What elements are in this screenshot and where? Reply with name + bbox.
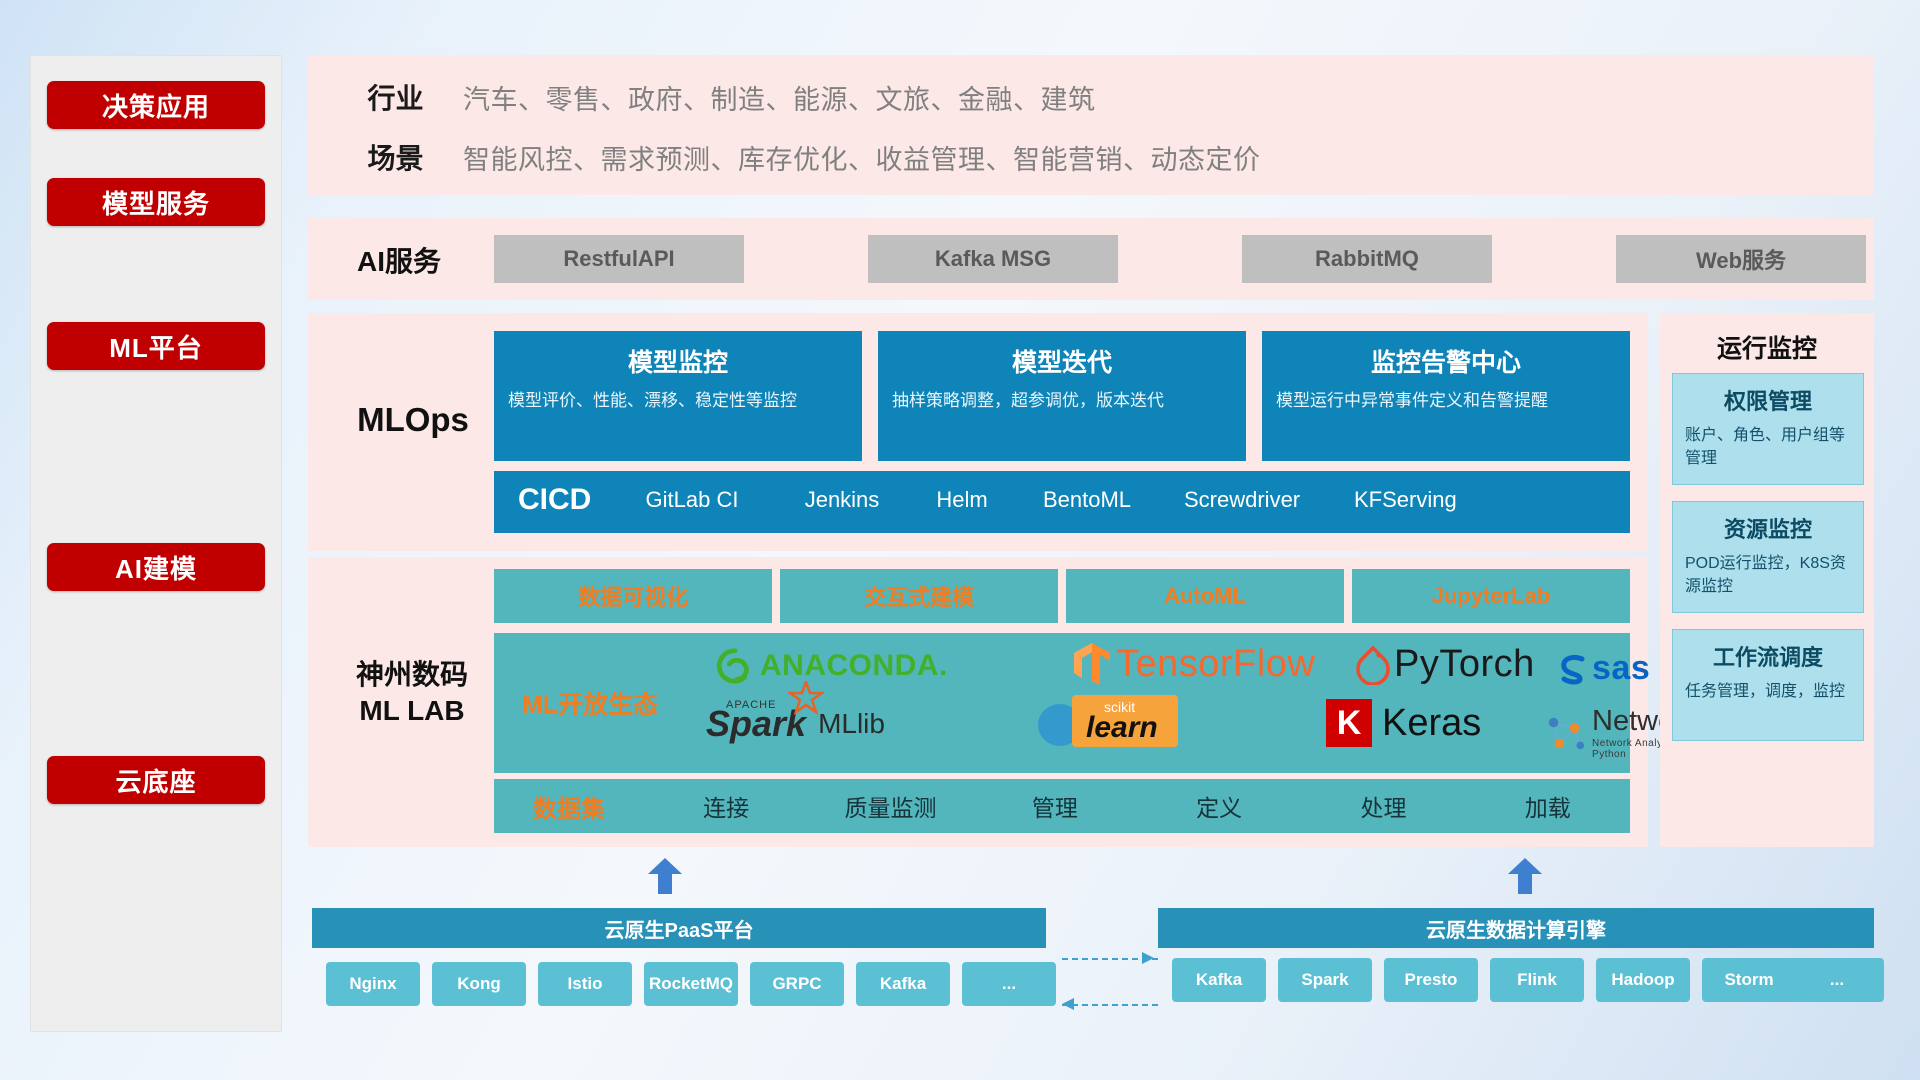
cicd-item-gitlab-ci[interactable]: GitLab CI [644, 487, 740, 512]
keras-mark-icon: K [1326, 699, 1372, 747]
mlops-card-desc: 模型评价、性能、漂移、稳定性等监控 [508, 389, 848, 414]
mlops-card-alert-center[interactable]: 监控告警中心 模型运行中异常事件定义和告警提醒 [1262, 331, 1630, 461]
ml-ecosystem-panel: ML开放生态 ANACONDA. TensorFlow [494, 633, 1630, 773]
layer-rail: 决策应用 模型服务 ML平台 AI建模 云底座 [30, 55, 282, 1032]
cicd-item-kfserving[interactable]: KFServing [1354, 487, 1450, 512]
ml-lab-band: 神州数码 ML LAB 数据可视化 交互式建模 AutoML JupyterLa… [308, 557, 1648, 847]
scikit-learn-logo: scikit learn [1034, 699, 1086, 749]
cicd-label: CICD [518, 483, 591, 517]
dataset-item-connect[interactable]: 连接 [644, 789, 808, 823]
sas-mark-icon [1556, 653, 1590, 685]
networkx-graph-icon [1544, 712, 1586, 754]
layer-chip-mlplatform[interactable]: ML平台 [47, 322, 265, 370]
anaconda-mark-icon [716, 647, 754, 685]
layer-chip-aimodeling[interactable]: AI建模 [47, 543, 265, 591]
cloud-tag-engine-more[interactable]: ... [1790, 958, 1884, 1002]
mlops-card-model-iteration[interactable]: 模型迭代 抽样策略调整，超参调优，版本迭代 [878, 331, 1246, 461]
ml-lab-tab-interactive-modeling[interactable]: 交互式建模 [780, 569, 1058, 623]
ai-service-button-web[interactable]: Web服务 [1616, 235, 1866, 283]
mlops-label: MLOps [328, 401, 498, 439]
cloud-tag-rocketmq[interactable]: RocketMQ [644, 962, 738, 1006]
dataset-item-define[interactable]: 定义 [1137, 789, 1301, 823]
dataset-item-manage[interactable]: 管理 [973, 789, 1137, 823]
dataset-item-quality[interactable]: 质量监测 [808, 789, 972, 823]
sas-logo: sas [1556, 649, 1650, 688]
ai-service-button-kafka-msg[interactable]: Kafka MSG [868, 235, 1118, 283]
industry-value: 汽车、零售、政府、制造、能源、文旅、金融、建筑 [463, 78, 1096, 117]
cloud-paas-title-bar: 云原生PaaS平台 [312, 908, 1046, 948]
anaconda-logo: ANACONDA. [716, 647, 948, 685]
cicd-row: CICD GitLab CI Jenkins Helm BentoML Scre… [494, 471, 1630, 533]
monitor-card-desc: 任务管理，调度，监控 [1685, 680, 1851, 703]
scene-label: 场景 [328, 137, 463, 177]
ai-service-label: AI服务 [334, 240, 464, 280]
cicd-item-helm[interactable]: Helm [914, 487, 1010, 512]
mllib-logo-text: MLlib [818, 708, 885, 740]
ml-ecosystem-label: ML开放生态 [522, 685, 658, 721]
monitor-card-desc: 账户、角色、用户组等管理 [1685, 424, 1851, 470]
arrow-up-paas-icon [648, 858, 682, 894]
cloud-tag-kafka[interactable]: Kafka [856, 962, 950, 1006]
industry-label: 行业 [328, 77, 463, 117]
ai-service-button-restfulapi[interactable]: RestfulAPI [494, 235, 744, 283]
runtime-monitor-panel: 运行监控 权限管理 账户、角色、用户组等管理 资源监控 POD运行监控，K8S资… [1660, 313, 1874, 847]
tensorflow-mark-icon [1072, 641, 1112, 687]
connector-arrow-right-icon [1142, 950, 1160, 968]
dataset-item-process[interactable]: 处理 [1301, 789, 1465, 823]
keras-mark-text: K [1337, 704, 1362, 743]
pytorch-logo-text: PyTorch [1394, 643, 1535, 686]
monitor-card-resource[interactable]: 资源监控 POD运行监控，K8S资源监控 [1672, 501, 1864, 613]
monitor-card-title: 资源监控 [1673, 512, 1863, 544]
cloud-tag-engine-storm[interactable]: Storm [1702, 958, 1796, 1002]
pytorch-logo: PyTorch [1356, 643, 1535, 686]
ml-lab-label: 神州数码 ML LAB [322, 657, 502, 730]
dataset-row: 数据集 连接 质量监测 管理 定义 处理 加载 [494, 779, 1630, 833]
pytorch-mark-icon [1356, 645, 1390, 685]
connector-arrow-left-icon [1060, 996, 1078, 1014]
cloud-tag-grpc[interactable]: GRPC [750, 962, 844, 1006]
layer-chip-cloudbase[interactable]: 云底座 [47, 756, 265, 804]
cicd-item-bentoml[interactable]: BentoML [1039, 487, 1135, 512]
mlops-band: MLOps 模型监控 模型评价、性能、漂移、稳定性等监控 模型迭代 抽样策略调整… [308, 313, 1648, 551]
cloud-tag-paas-more[interactable]: ... [962, 962, 1056, 1006]
cloud-tag-engine-spark[interactable]: Spark [1278, 958, 1372, 1002]
scikit-learn-text: learn [1086, 711, 1158, 745]
architecture-diagram: 决策应用 模型服务 ML平台 AI建模 云底座 行业 汽车、零售、政府、制造、能… [0, 0, 1920, 1080]
spark-apache-text: APACHE [726, 699, 776, 711]
cloud-tag-istio[interactable]: Istio [538, 962, 632, 1006]
mlops-card-title: 监控告警中心 [1262, 343, 1630, 379]
dataset-label: 数据集 [494, 789, 644, 824]
monitor-card-permission[interactable]: 权限管理 账户、角色、用户组等管理 [1672, 373, 1864, 485]
arrow-up-engine-icon [1508, 858, 1542, 894]
anaconda-logo-text: ANACONDA. [760, 649, 948, 683]
monitor-card-workflow[interactable]: 工作流调度 任务管理，调度，监控 [1672, 629, 1864, 741]
layer-chip-modelserve[interactable]: 模型服务 [47, 178, 265, 226]
mlops-card-desc: 模型运行中异常事件定义和告警提醒 [1276, 389, 1616, 414]
dataset-item-load[interactable]: 加载 [1466, 789, 1630, 823]
cicd-item-jenkins[interactable]: Jenkins [794, 487, 890, 512]
ai-service-button-rabbitmq[interactable]: RabbitMQ [1242, 235, 1492, 283]
cloud-tag-nginx[interactable]: Nginx [326, 962, 420, 1006]
keras-logo-text: Keras [1382, 702, 1481, 745]
scene-value: 智能风控、需求预测、库存优化、收益管理、智能营销、动态定价 [463, 138, 1261, 177]
spark-mllib-logo: APACHE Spark MLlib [706, 703, 885, 745]
tensorflow-logo-text: TensorFlow [1116, 643, 1315, 686]
runtime-monitor-title: 运行监控 [1660, 329, 1874, 365]
mlops-card-desc: 抽样策略调整，超参调优，版本迭代 [892, 389, 1232, 414]
cloud-engine-title-bar: 云原生数据计算引擎 [1158, 908, 1874, 948]
cloud-tag-engine-presto[interactable]: Presto [1384, 958, 1478, 1002]
monitor-card-title: 工作流调度 [1673, 640, 1863, 672]
cloud-tag-kong[interactable]: Kong [432, 962, 526, 1006]
ml-lab-label-line2: ML LAB [322, 693, 502, 729]
cicd-item-screwdriver[interactable]: Screwdriver [1184, 487, 1280, 512]
monitor-card-desc: POD运行监控，K8S资源监控 [1685, 552, 1851, 598]
ml-lab-tab-jupyterlab[interactable]: JupyterLab [1352, 569, 1630, 623]
mlops-card-title: 模型监控 [494, 343, 862, 379]
industry-scene-band: 行业 汽车、零售、政府、制造、能源、文旅、金融、建筑 场景 智能风控、需求预测、… [308, 55, 1874, 195]
layer-chip-decision[interactable]: 决策应用 [47, 81, 265, 129]
mlops-card-title: 模型迭代 [878, 343, 1246, 379]
cloud-tag-engine-kafka[interactable]: Kafka [1172, 958, 1266, 1002]
ml-lab-label-line1: 神州数码 [322, 657, 502, 693]
ml-lab-tab-data-visualization[interactable]: 数据可视化 [494, 569, 772, 623]
sas-logo-text: sas [1592, 649, 1650, 688]
mlops-card-model-monitor[interactable]: 模型监控 模型评价、性能、漂移、稳定性等监控 [494, 331, 862, 461]
spark-star-icon [788, 681, 824, 715]
keras-logo: K Keras [1326, 699, 1481, 747]
tensorflow-logo: TensorFlow [1072, 641, 1315, 687]
ai-service-band: AI服务 RestfulAPI Kafka MSG RabbitMQ Web服务 [308, 218, 1874, 300]
industry-row: 行业 汽车、零售、政府、制造、能源、文旅、金融、建筑 [328, 77, 1096, 117]
cloud-tag-engine-flink[interactable]: Flink [1490, 958, 1584, 1002]
monitor-card-title: 权限管理 [1673, 384, 1863, 416]
scene-row: 场景 智能风控、需求预测、库存优化、收益管理、智能营销、动态定价 [328, 137, 1261, 177]
ml-lab-tab-automl[interactable]: AutoML [1066, 569, 1344, 623]
cloud-tag-engine-hadoop[interactable]: Hadoop [1596, 958, 1690, 1002]
